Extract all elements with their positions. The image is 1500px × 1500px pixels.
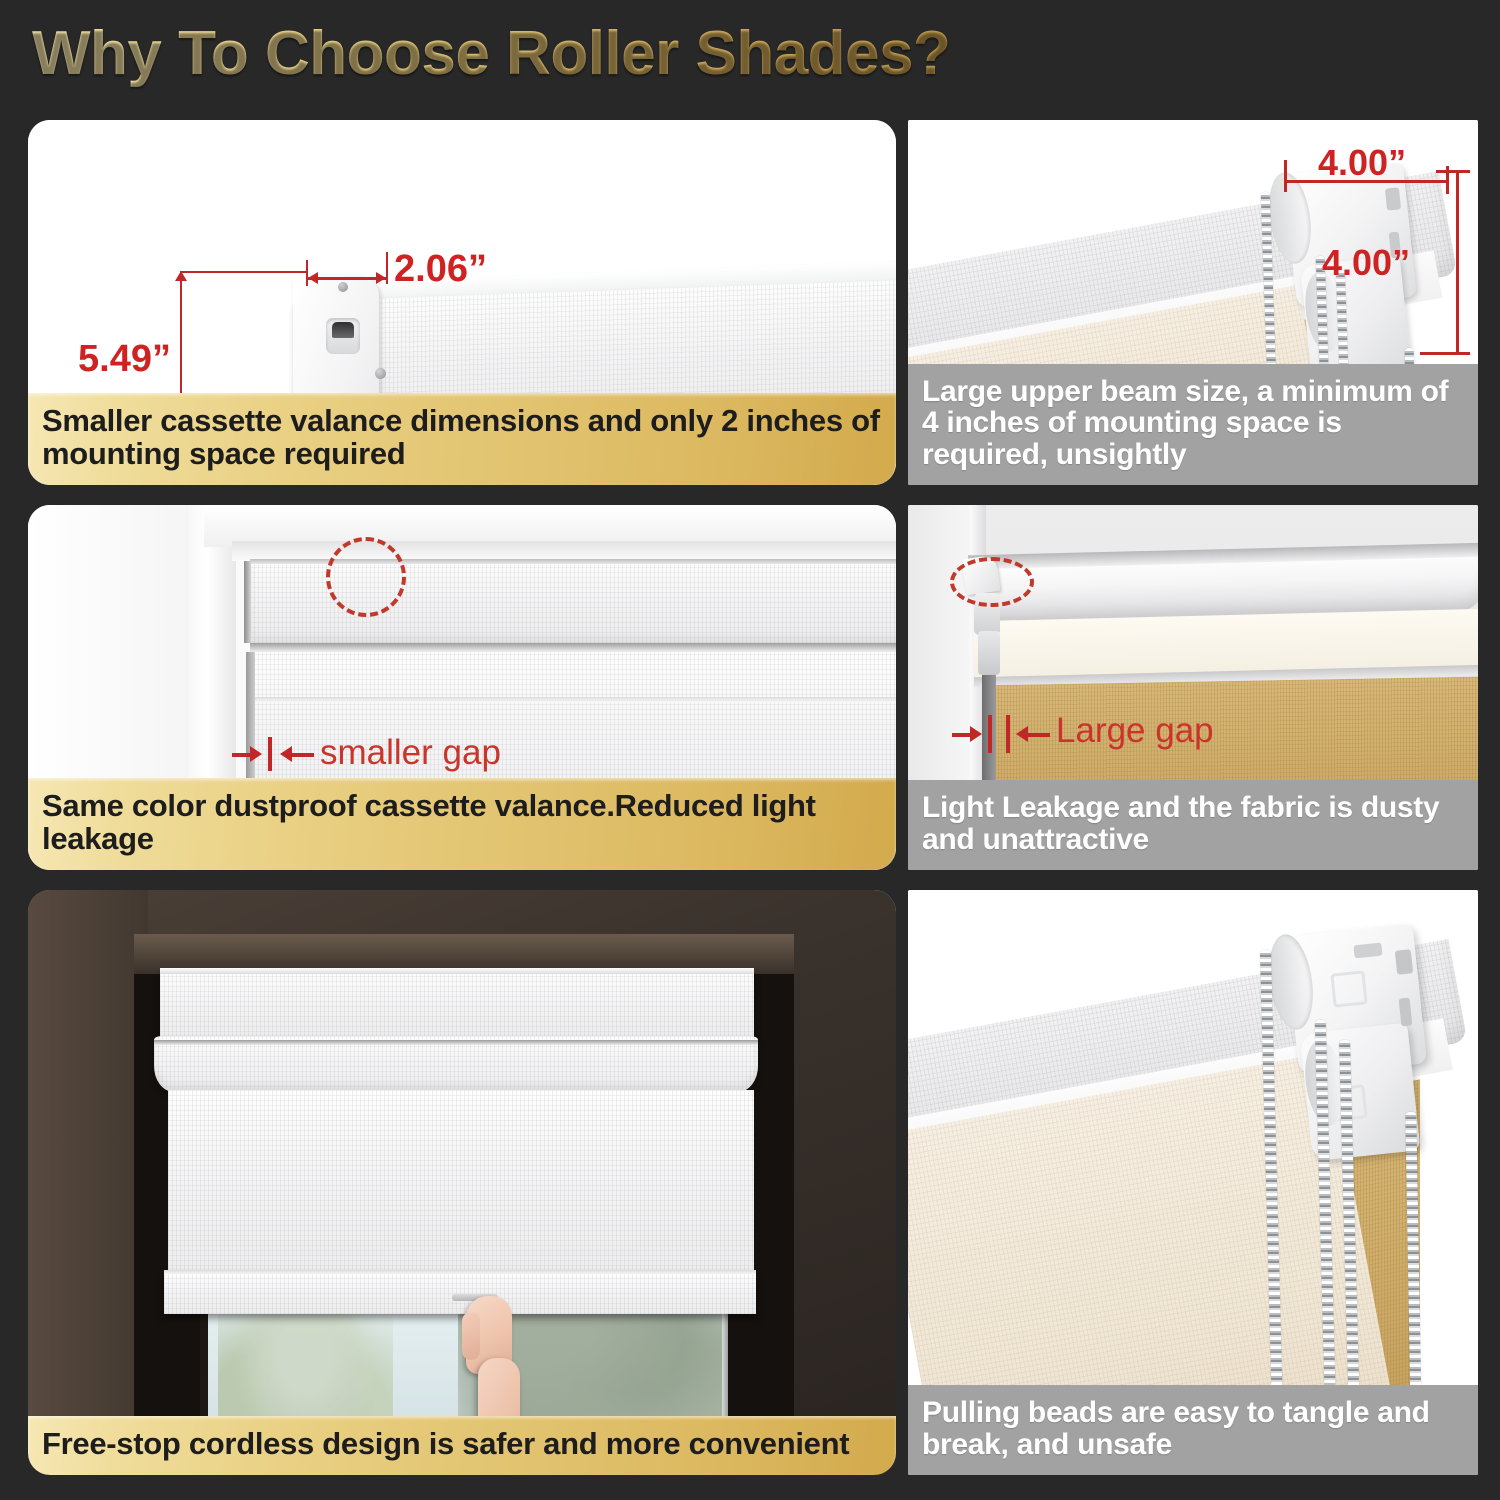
dimension-label-depth: 2.06” [394, 248, 487, 291]
highlight-circle [326, 537, 406, 617]
panel-middle-right-caption: Light Leakage and the fabric is dusty an… [908, 780, 1478, 870]
dimension-label-width: 4.00” [1318, 142, 1406, 184]
panel-middle-right: Large gap Light Leakage and the fabric i… [908, 505, 1478, 870]
infographic-root: Why To Choose Roller Shades? [0, 0, 1500, 1500]
panel-bottom-left-caption: Free-stop cordless design is safer and m… [28, 1416, 896, 1475]
panel-top-left: 5.49” 2.06” Smaller cassette valance dim… [28, 120, 896, 485]
panel-bottom-right: Pulling beads are easy to tangle and bre… [908, 890, 1478, 1475]
panel-top-right: 4.00” 4.00” Large upper beam size, a min… [908, 120, 1478, 485]
panel-top-left-caption: Smaller cassette valance dimensions and … [28, 393, 896, 485]
panel-middle-left-caption: Same color dustproof cassette valance.Re… [28, 778, 896, 870]
gap-callout-label: Large gap [1056, 711, 1214, 751]
gap-callout-label: smaller gap [320, 733, 501, 773]
panel-top-right-caption: Large upper beam size, a minimum of 4 in… [908, 364, 1478, 485]
panel-bottom-left: Free-stop cordless design is safer and m… [28, 890, 896, 1475]
dimension-line-height [1456, 170, 1459, 355]
panel-bottom-right-caption: Pulling beads are easy to tangle and bre… [908, 1385, 1478, 1475]
highlight-circle [950, 557, 1034, 607]
dimension-label-height: 5.49” [78, 338, 171, 381]
panel-middle-left: smaller gap Same color dustproof cassett… [28, 505, 896, 870]
page-title: Why To Choose Roller Shades? [32, 18, 950, 89]
panel-bottom-left-image [28, 890, 896, 1475]
dimension-label-height: 4.00” [1322, 242, 1410, 284]
